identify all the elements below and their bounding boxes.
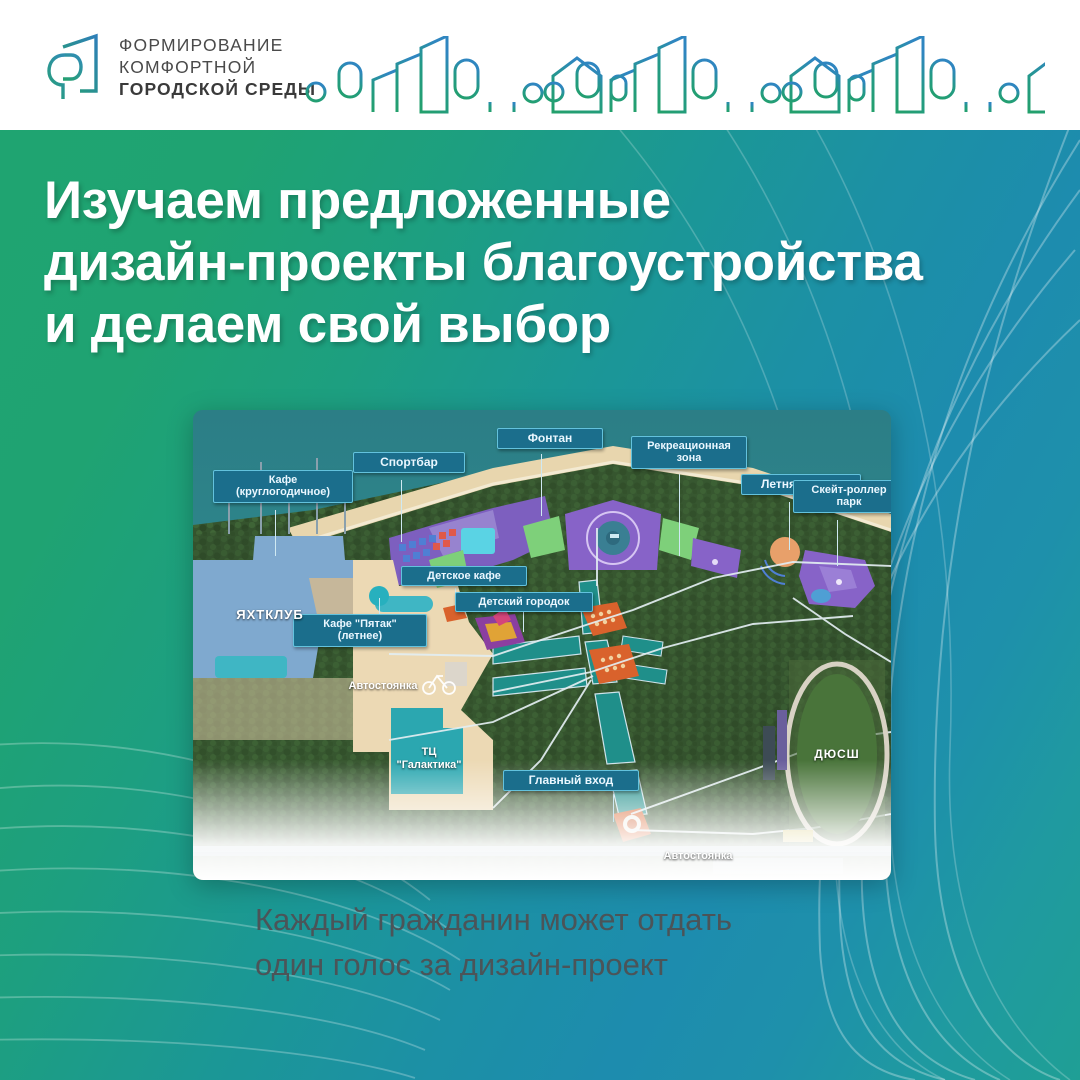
map-label-recreation-zone[interactable]: Рекреационная зона bbox=[631, 436, 747, 469]
design-project-map[interactable]: Кафе (круглогодичное) Спортбар Фонтан Ре… bbox=[193, 410, 891, 880]
map-label-skate-park[interactable]: Скейт-роллер парк bbox=[793, 480, 891, 513]
map-label-cafe-year-round[interactable]: Кафе (круглогодичное) bbox=[213, 470, 353, 503]
caption-panel: Каждый гражданин может отдать один голос… bbox=[193, 820, 891, 1050]
brand-line-1: ФОРМИРОВАНИЕ bbox=[119, 34, 316, 56]
leader-cafe-year-round bbox=[275, 510, 276, 556]
map-label-fountain[interactable]: Фонтан bbox=[497, 428, 603, 449]
map-label-sportbar[interactable]: Спортбар bbox=[353, 452, 465, 473]
map-text-sport-school: ДЮСШ bbox=[797, 748, 877, 762]
caption-line-2: один голос за дизайн-проект bbox=[255, 943, 895, 988]
map-label-main-entrance[interactable]: Главный вход bbox=[503, 770, 639, 791]
map-label-kids-cafe[interactable]: Детское кафе bbox=[401, 566, 527, 586]
map-label-kids-playground[interactable]: Детский городок bbox=[455, 592, 593, 612]
leader-recreation-zone bbox=[679, 474, 680, 556]
map-text-mall: ТЦ "Галактика" bbox=[389, 746, 469, 771]
leader-fountain bbox=[541, 454, 542, 516]
fks-emblem-icon bbox=[47, 33, 105, 101]
caption-line-1: Каждый гражданин может отдать bbox=[255, 898, 895, 943]
brand-line-3: ГОРОДСКОЙ СРЕДЫ bbox=[119, 78, 316, 100]
header-bar: ФОРМИРОВАНИЕ КОМФОРТНОЙ ГОРОДСКОЙ СРЕДЫ bbox=[0, 0, 1080, 130]
map-text-parking-west: Автостоянка bbox=[323, 680, 443, 693]
caption-text: Каждый гражданин может отдать один голос… bbox=[255, 898, 895, 988]
leader-summer-stage bbox=[789, 502, 790, 550]
leader-sportbar bbox=[401, 480, 402, 542]
title-line-1: Изучаем предложенные bbox=[44, 170, 1044, 232]
page-title: Изучаем предложенные дизайн-проекты благ… bbox=[44, 170, 1044, 356]
leader-main-entrance bbox=[613, 794, 614, 822]
brand-logo-text: ФОРМИРОВАНИЕ КОМФОРТНОЙ ГОРОДСКОЙ СРЕДЫ bbox=[119, 34, 316, 101]
brand-logo[interactable]: ФОРМИРОВАНИЕ КОМФОРТНОЙ ГОРОДСКОЙ СРЕДЫ bbox=[47, 33, 316, 101]
city-skyline-pattern-icon bbox=[305, 36, 1045, 114]
poster: Изучаем предложенные дизайн-проекты благ… bbox=[0, 0, 1080, 1080]
title-line-3: и делаем свой выбор bbox=[44, 294, 1044, 356]
leader-kids-playground bbox=[523, 612, 524, 632]
leader-skate-park bbox=[837, 520, 838, 566]
title-line-2: дизайн-проекты благоустройства bbox=[44, 232, 1044, 294]
brand-line-2: КОМФОРТНОЙ bbox=[119, 56, 316, 78]
map-text-yacht-club: ЯХТКЛУБ bbox=[215, 608, 325, 623]
